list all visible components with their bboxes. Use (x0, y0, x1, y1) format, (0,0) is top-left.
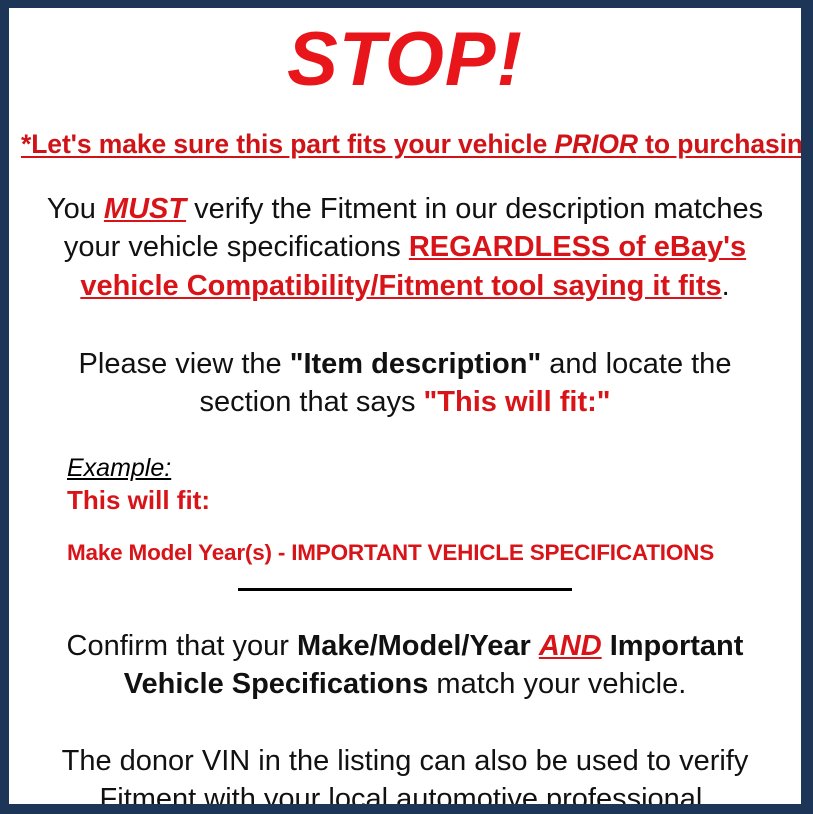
and-emphasis: AND (539, 630, 602, 662)
must-verify-paragraph: You MUST verify the Fitment in our descr… (21, 190, 789, 305)
subheadline-lead: *Let's make sure this part fits your veh… (21, 129, 554, 159)
item-description-emphasis: "Item description" (290, 348, 541, 380)
subheadline: *Let's make sure this part fits your veh… (21, 129, 789, 160)
item-description-paragraph: Please view the "Item description" and l… (21, 345, 789, 422)
example-spec-line: Make Model Year(s) - IMPORTANT VEHICLE S… (67, 540, 789, 566)
example-block: Example: This will fit: Make Model Year(… (21, 454, 789, 565)
divider-row (21, 588, 789, 591)
this-will-fit-emphasis: "This will fit:" (424, 386, 611, 418)
fitment-notice-card: STOP! *Let's make sure this part fits yo… (0, 0, 813, 814)
example-fit-heading: This will fit: (67, 484, 789, 517)
confirm-text-2: match your vehicle. (428, 668, 686, 700)
notice-content: STOP! *Let's make sure this part fits yo… (9, 22, 801, 814)
confirm-space-1 (531, 630, 539, 662)
donor-vin-paragraph: The donor VIN in the listing can also be… (21, 742, 789, 814)
subheadline-prior-emphasis: PRIOR (554, 129, 637, 159)
section-divider (238, 588, 572, 591)
example-label: Example: (67, 454, 789, 483)
make-model-year-emphasis: Make/Model/Year (297, 630, 531, 662)
confirm-paragraph: Confirm that your Make/Model/Year AND Im… (21, 627, 789, 704)
view-text-1: Please view the (79, 348, 290, 380)
must-emphasis: MUST (104, 193, 186, 225)
subheadline-tail: to purchasing* (638, 129, 813, 159)
confirm-text-1: Confirm that your (67, 630, 297, 662)
page-title: STOP! (21, 22, 789, 98)
confirm-space-2 (602, 630, 610, 662)
must-text-1: You (47, 193, 104, 225)
must-text-3: . (722, 270, 730, 302)
